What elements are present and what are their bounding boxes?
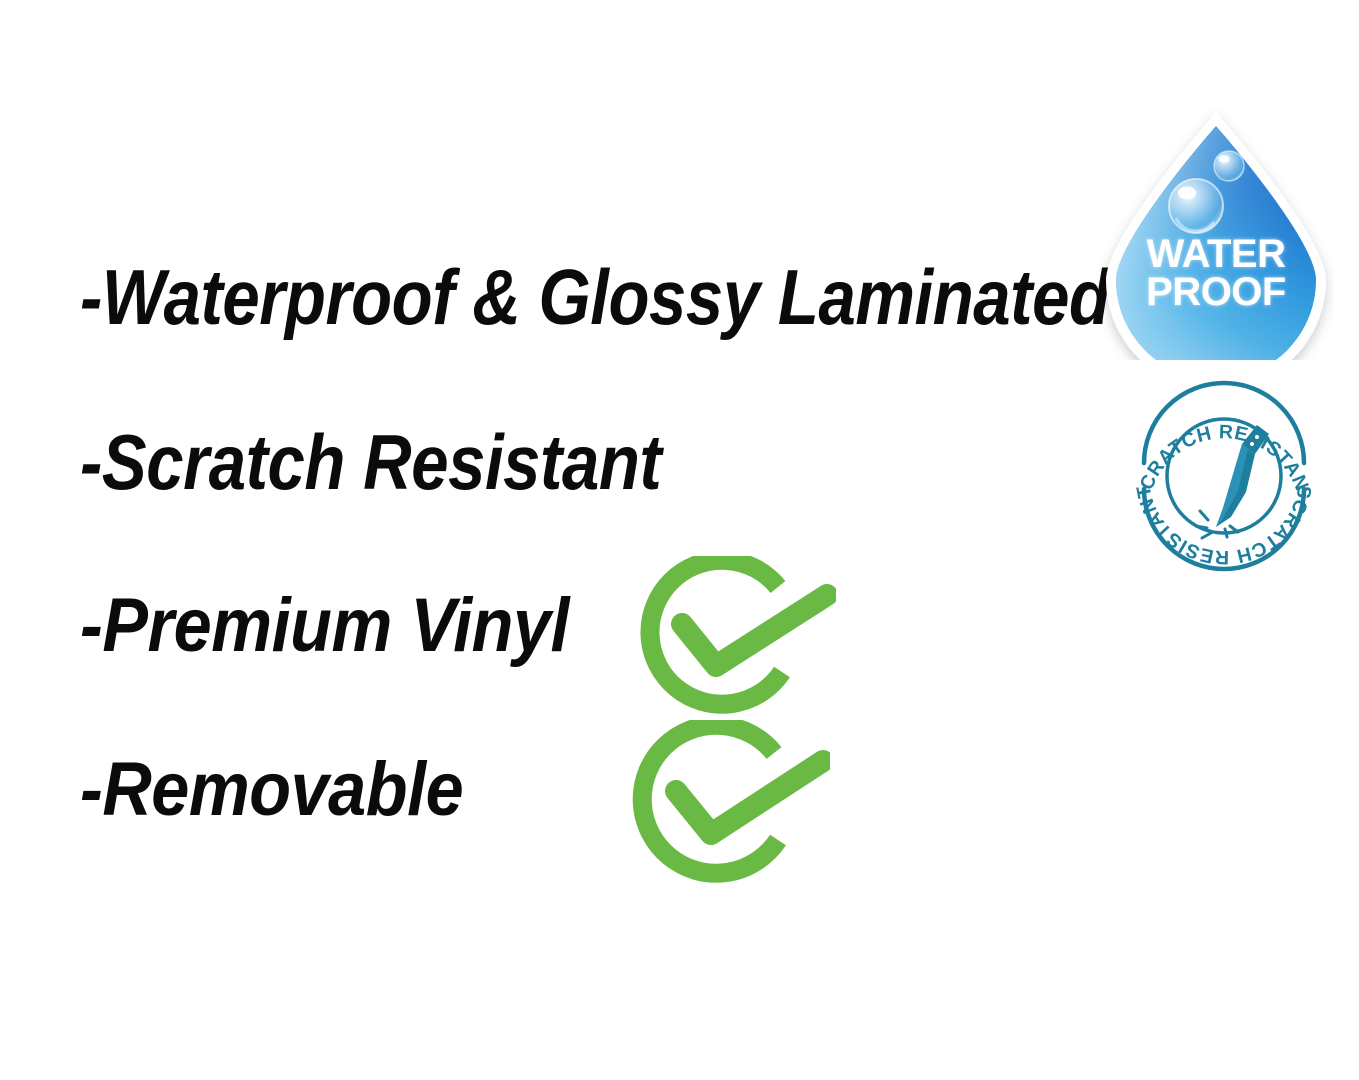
waterproof-droplet-badge: WATER PROOF (1098, 108, 1334, 360)
scratch-resistant-stamp-badge: SCRATCH RESISTANT SCRATCH RESISTANT (1128, 380, 1320, 572)
check-tick (682, 595, 827, 666)
product-features-graphic: -Waterproof & Glossy Laminated -Scratch … (0, 0, 1359, 1080)
stamp-bottom-text: SCRATCH RESISTANT (1133, 483, 1316, 568)
bubble-small-glint (1219, 155, 1230, 163)
feature-item-waterproof-glossy-laminated: -Waterproof & Glossy Laminated (80, 258, 1110, 336)
feature-item-scratch-resistant: -Scratch Resistant (80, 423, 661, 501)
check-tick (676, 761, 823, 834)
check-circle-icon (630, 720, 830, 885)
checkmark-removable (630, 720, 830, 885)
check-circle-icon (636, 556, 836, 716)
feature-item-premium-vinyl: -Premium Vinyl (80, 588, 569, 664)
scratch-resistant-stamp-icon: SCRATCH RESISTANT SCRATCH RESISTANT (1128, 380, 1320, 572)
bubble-large-glint (1178, 187, 1196, 200)
feature-item-removable: -Removable (80, 752, 463, 828)
bubble-large-icon (1169, 179, 1223, 233)
bubble-small-icon (1214, 151, 1244, 181)
checkmark-premium-vinyl (636, 556, 836, 716)
feature-list: -Waterproof & Glossy Laminated -Scratch … (0, 0, 1100, 1080)
water-drop-icon (1098, 108, 1334, 360)
stamp-top-text: SCRATCH RESISTANT (1128, 380, 1313, 494)
